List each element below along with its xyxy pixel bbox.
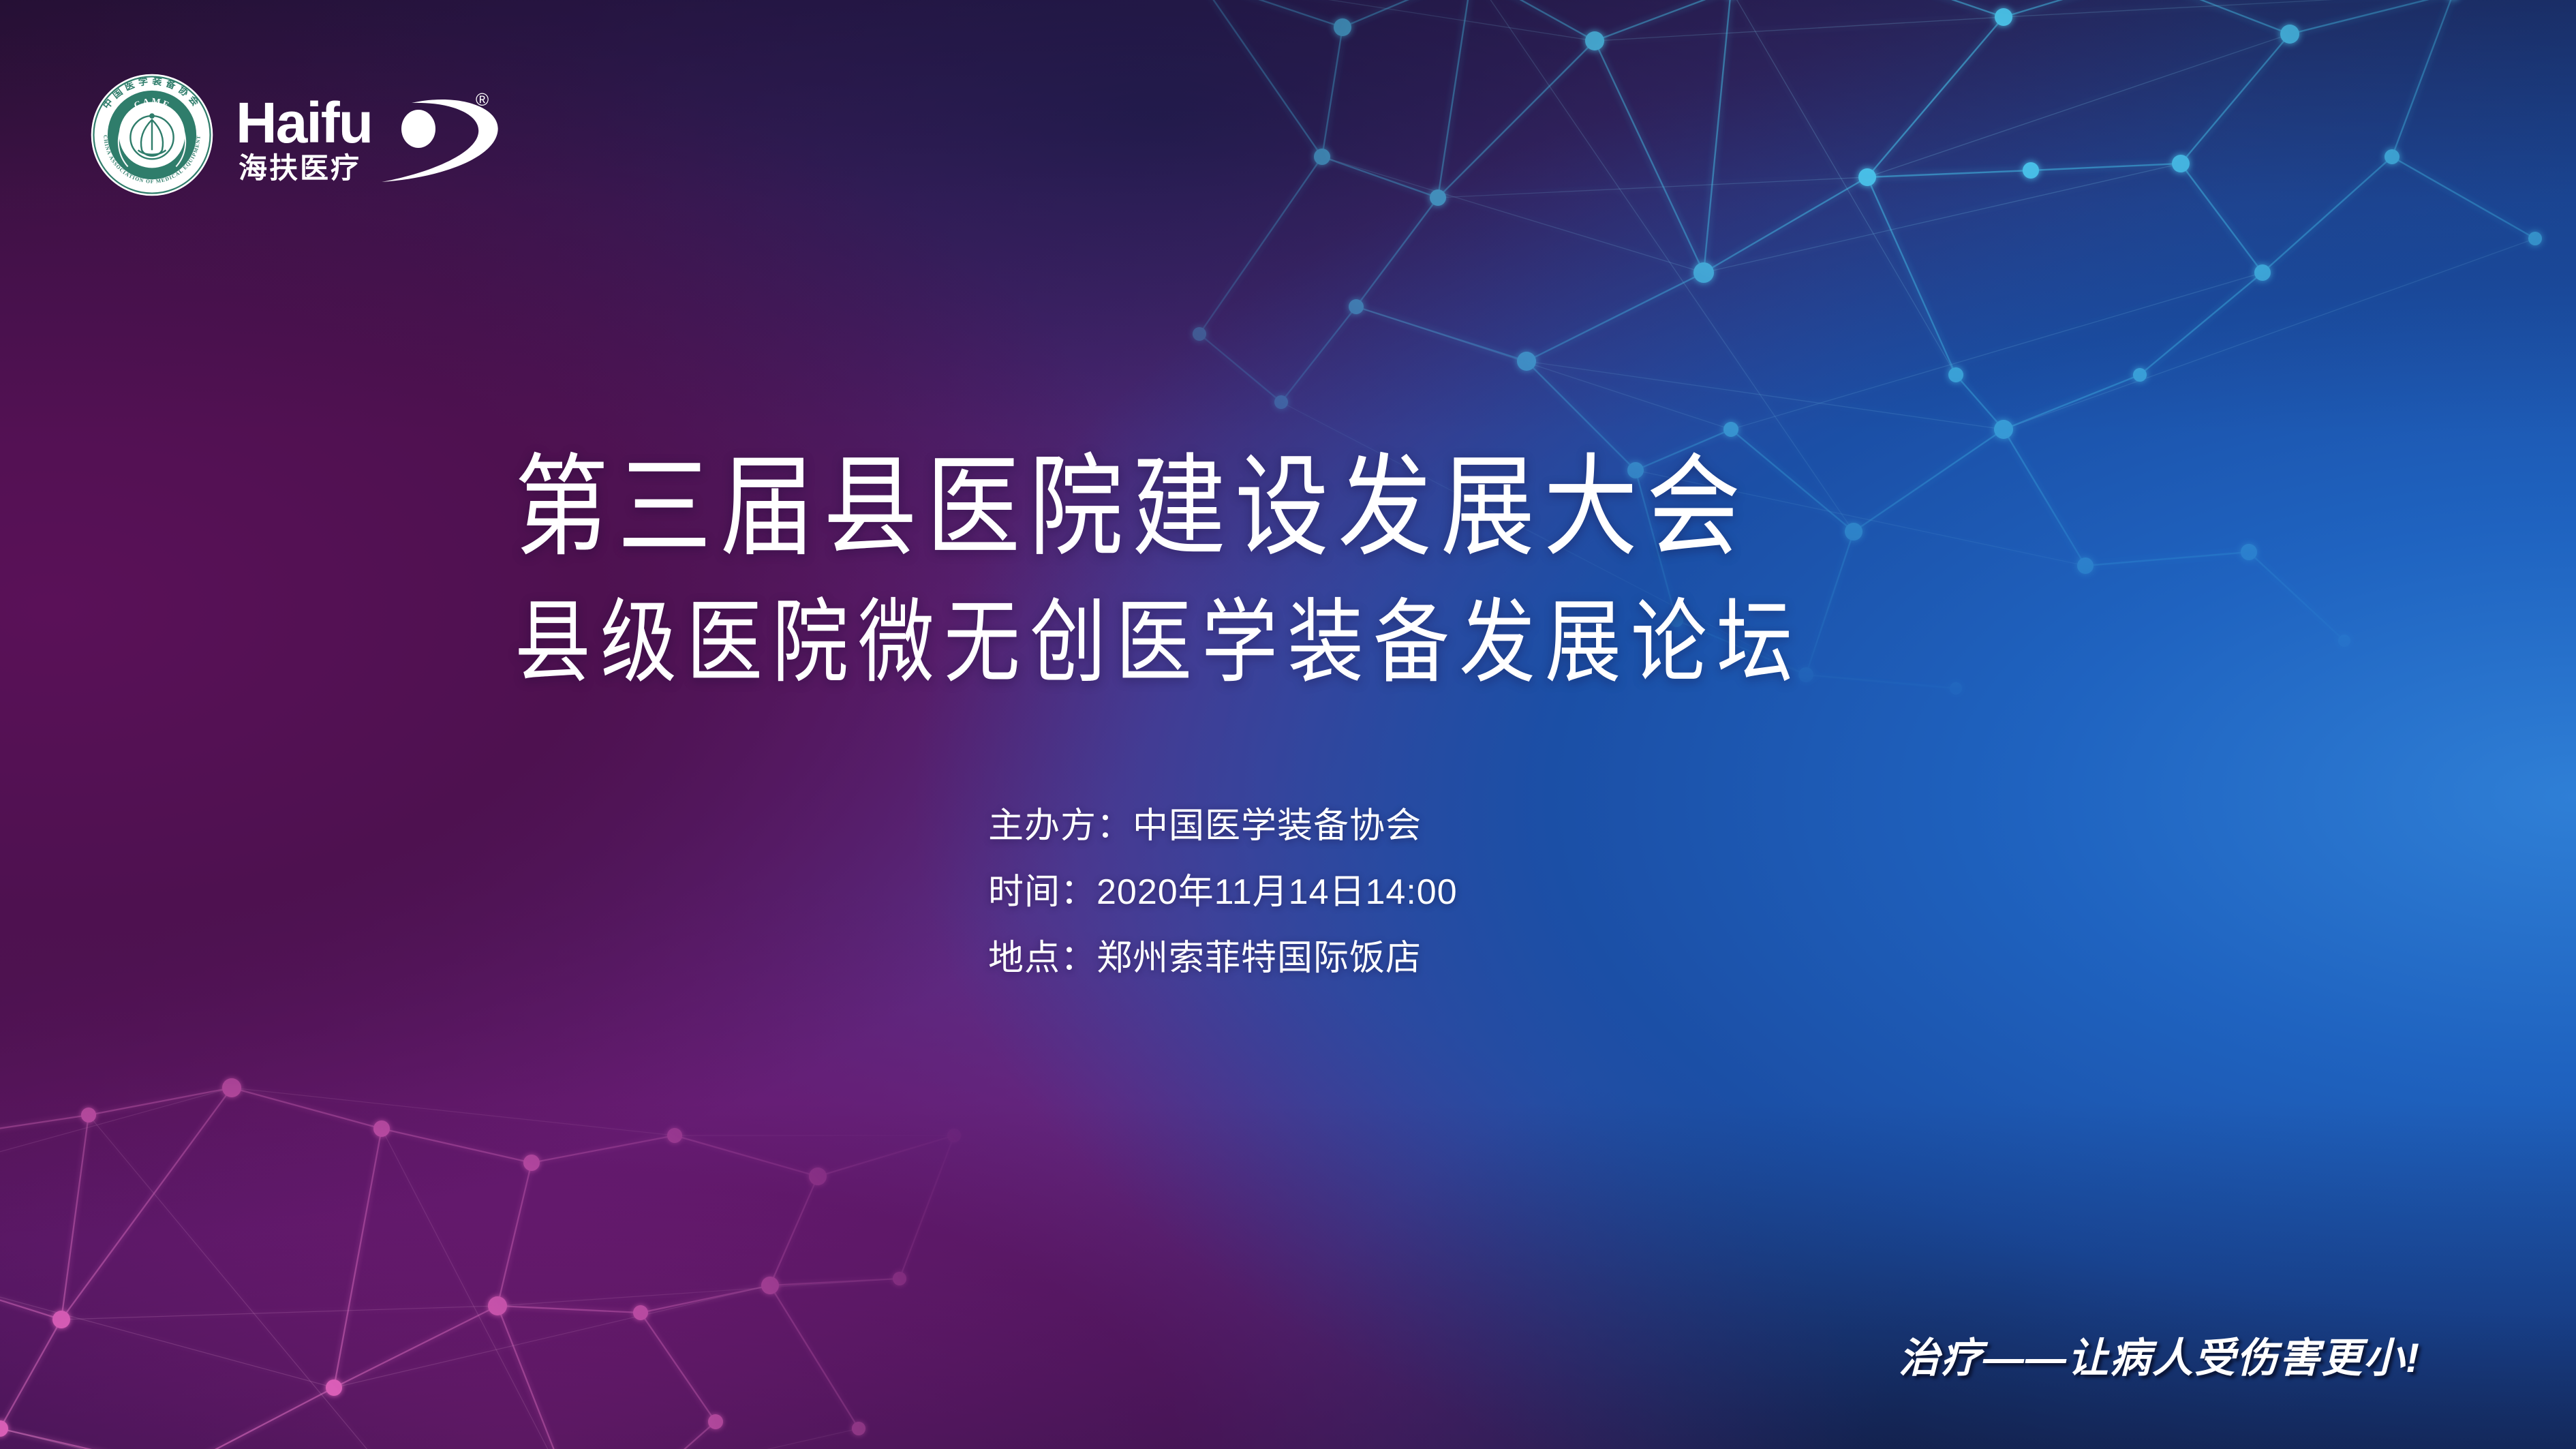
- haifu-brand-logo: Haifu ® 海扶医疗: [236, 82, 508, 192]
- poster-canvas: CAME 中国医学装备协会 CHINA ASSOCIATION OF MEDIC…: [0, 0, 2576, 1449]
- detail-organizer: 主办方：中国医学装备协会: [988, 799, 1458, 854]
- conference-sub-title: 县级医院微无创医学装备发展论坛: [515, 589, 2055, 697]
- haifu-dot-icon: [401, 110, 435, 148]
- brand-slogan: 治疗——让病人受伤害更小!: [1899, 1325, 2421, 1384]
- detail-location: 地点：郑州索菲特国际饭店: [988, 931, 1458, 986]
- headline-block: 第三届县医院建设发展大会 县级医院微无创医学装备发展论坛: [515, 442, 2055, 679]
- network-mesh-pink-decoration: [0, 842, 988, 1449]
- logo-lockup: CAME 中国医学装备协会 CHINA ASSOCIATION OF MEDIC…: [89, 72, 508, 202]
- came-association-seal-logo: CAME 中国医学装备协会 CHINA ASSOCIATION OF MEDIC…: [89, 72, 215, 202]
- conference-main-title: 第三届县医院建设发展大会: [515, 442, 2055, 575]
- haifu-wordmark-text: Haifu: [236, 91, 372, 155]
- event-details-block: 主办方：中国医学装备协会 时间：2020年11月14日14:00 地点：郑州索菲…: [988, 799, 1458, 997]
- haifu-swoosh-icon: [382, 99, 498, 181]
- haifu-chinese-name-text: 海扶医疗: [239, 151, 361, 185]
- haifu-registered-icon: ®: [476, 89, 489, 110]
- detail-time: 时间：2020年11月14日14:00: [988, 865, 1458, 920]
